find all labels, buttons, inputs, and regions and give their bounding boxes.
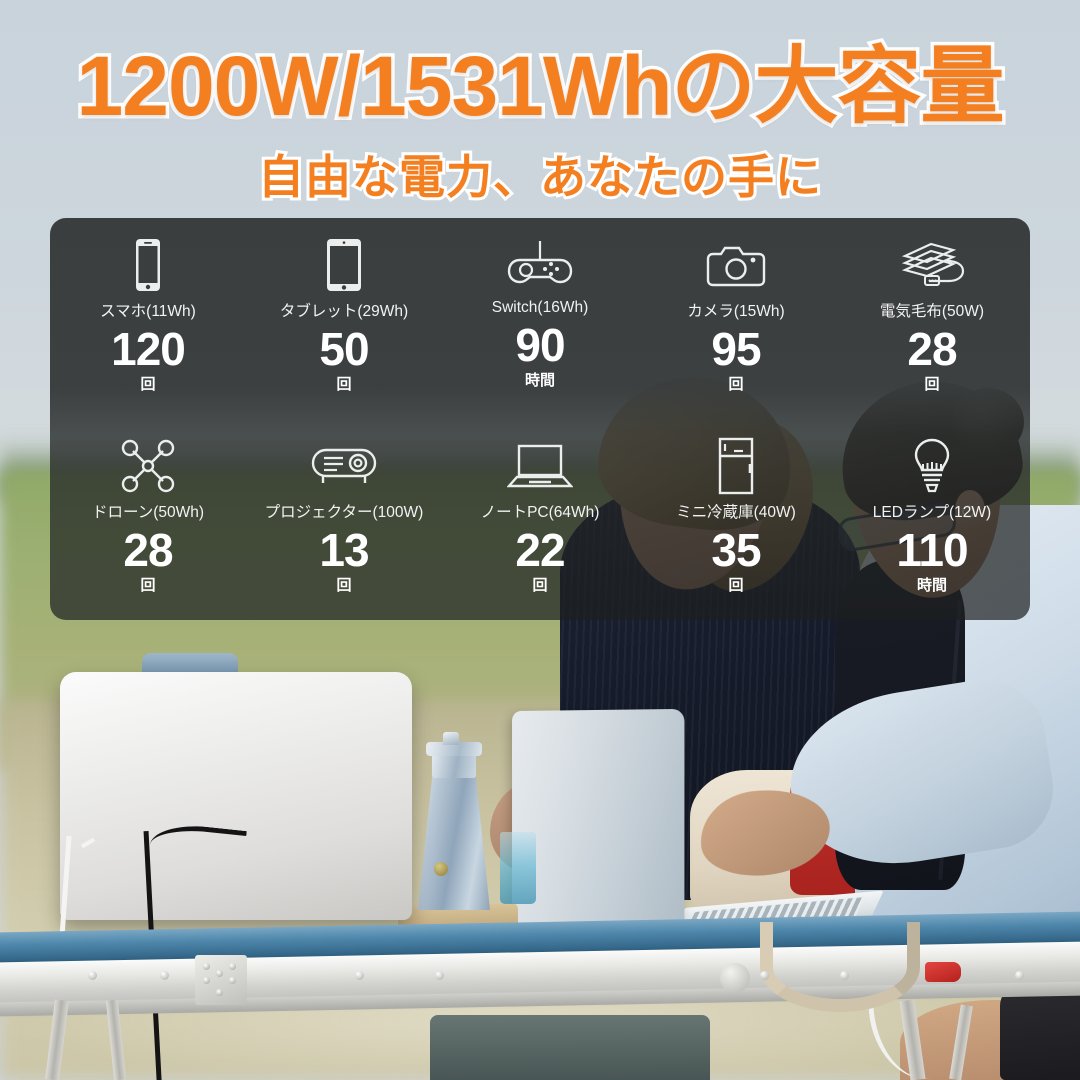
runtime-unit: 回 [140, 373, 155, 394]
fridge-icon [714, 437, 758, 495]
runtime-row: ドローン(50Wh) 28 回 プロジェクター(100W) 13 回 ノートPC… [50, 419, 1030, 620]
runtime-value: 110 [896, 527, 967, 573]
runtime-label: Switch(16Wh) [492, 299, 588, 317]
table-rivet [1015, 971, 1024, 980]
table-rivet [88, 971, 97, 980]
runtime-label: カメラ(15Wh) [687, 299, 784, 321]
runtime-unit: 回 [532, 574, 547, 595]
red-strap-clip [925, 962, 961, 982]
table-latch [720, 963, 750, 993]
runtime-unit: 回 [336, 373, 351, 394]
runtime-label: ドローン(50Wh) [92, 500, 204, 522]
runtime-cell-smartphone: スマホ(11Wh) 120 回 [50, 218, 246, 419]
table-strap [760, 922, 920, 1012]
gamepad-icon [507, 236, 573, 294]
headline-block: 1200W/1531Whの大容量 自由な電力、あなたの手に [0, 42, 1080, 207]
table-rivet [435, 971, 444, 980]
runtime-value: 35 [711, 527, 760, 573]
runtime-label: プロジェクター(100W) [265, 500, 424, 522]
runtime-value: 90 [515, 322, 564, 368]
runtime-value: 28 [123, 527, 172, 573]
runtime-label: ノートPC(64Wh) [481, 500, 600, 522]
drone-icon [117, 437, 179, 495]
device-runtime-panel: スマホ(11Wh) 120 回 タブレット(29Wh) 50 回 Switch(… [50, 218, 1030, 620]
runtime-value: 120 [111, 326, 185, 372]
runtime-cell-switch: Switch(16Wh) 90 時間 [442, 218, 638, 419]
runtime-row: スマホ(11Wh) 120 回 タブレット(29Wh) 50 回 Switch(… [50, 218, 1030, 419]
table-bracket [195, 955, 247, 1005]
runtime-label: ミニ冷蔵庫(40W) [676, 500, 796, 522]
table-rivet [160, 971, 169, 980]
table-rivet [840, 971, 849, 980]
runtime-cell-drone: ドローン(50Wh) 28 回 [50, 419, 246, 620]
person-right-shorts [1000, 985, 1080, 1080]
runtime-unit: 回 [728, 373, 743, 394]
runtime-unit: 時間 [525, 369, 555, 390]
runtime-label: LEDランプ(12W) [873, 500, 991, 522]
runtime-value: 28 [907, 326, 956, 372]
runtime-label: スマホ(11Wh) [100, 299, 196, 321]
camping-chair [430, 1015, 710, 1080]
projector-icon [309, 437, 379, 495]
drinking-glass [500, 832, 536, 904]
runtime-cell-laptop: ノートPC(64Wh) 22 回 [442, 419, 638, 620]
blanket-icon [897, 236, 967, 294]
runtime-value: 22 [515, 527, 564, 573]
smartphone-icon [129, 236, 167, 294]
tablet-icon [321, 236, 367, 294]
table-rivet [355, 971, 364, 980]
runtime-unit: 時間 [917, 574, 947, 595]
runtime-label: 電気毛布(50W) [880, 299, 984, 321]
runtime-cell-camera: カメラ(15Wh) 95 回 [638, 218, 834, 419]
runtime-cell-blanket: 電気毛布(50W) 28 回 [834, 218, 1030, 419]
runtime-unit: 回 [336, 574, 351, 595]
runtime-cell-projector: プロジェクター(100W) 13 回 [246, 419, 442, 620]
laptop-icon [507, 437, 573, 495]
runtime-value: 50 [319, 326, 368, 372]
runtime-unit: 回 [140, 574, 155, 595]
headline-secondary: 自由な電力、あなたの手に [0, 141, 1080, 207]
table-rivet [760, 971, 769, 980]
camera-icon [705, 236, 767, 294]
runtime-cell-tablet: タブレット(29Wh) 50 回 [246, 218, 442, 419]
headline-primary: 1200W/1531Whの大容量 [0, 42, 1080, 131]
lightbulb-icon [909, 437, 955, 495]
runtime-unit: 回 [728, 574, 743, 595]
runtime-label: タブレット(29Wh) [280, 299, 408, 321]
moka-pot-badge [434, 862, 448, 876]
runtime-value: 13 [319, 527, 368, 573]
runtime-value: 95 [711, 326, 760, 372]
runtime-unit: 回 [924, 373, 939, 394]
runtime-grid: スマホ(11Wh) 120 回 タブレット(29Wh) 50 回 Switch(… [50, 218, 1030, 620]
runtime-cell-fridge: ミニ冷蔵庫(40W) 35 回 [638, 419, 834, 620]
runtime-cell-led-lamp: LEDランプ(12W) 110 時間 [834, 419, 1030, 620]
moka-pot-knob [443, 732, 459, 745]
laptop-screen-lid [512, 709, 684, 943]
